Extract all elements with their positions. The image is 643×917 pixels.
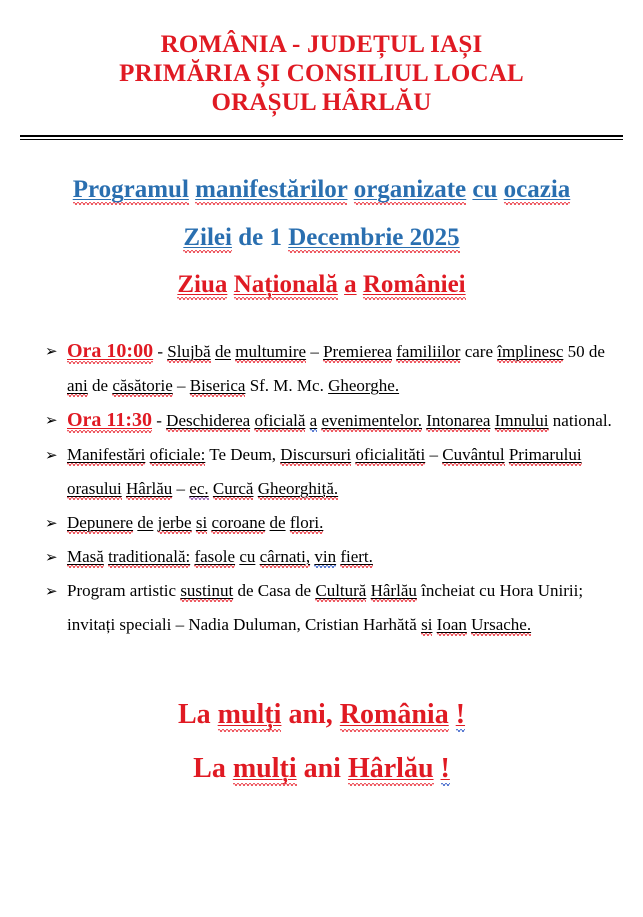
title-date: Zilei de 1 Decembrie 2025 <box>0 214 643 262</box>
program-list: ➢ Ora 10:00 - Slujbă de multumire – Prem… <box>45 334 621 642</box>
header-divider <box>20 135 623 140</box>
divider-thin-line <box>20 139 623 140</box>
list-item: ➢ Program artistic sustinut de Casa de C… <box>45 574 621 642</box>
event-separator: - <box>153 342 167 361</box>
arrow-bullet-icon: ➢ <box>45 438 58 472</box>
event-separator: - <box>152 411 166 430</box>
title-program: Programul manifestărilor organizate cu o… <box>0 166 643 214</box>
arrow-bullet-icon: ➢ <box>45 334 58 368</box>
event-text: Masă traditională: fasole cu cârnati, vi… <box>67 547 373 568</box>
header-line-city: ORAȘUL HÂRLĂU <box>0 88 643 117</box>
arrow-bullet-icon: ➢ <box>45 540 58 574</box>
header-line-country: ROMÂNIA - JUDEȚUL IAȘI <box>0 30 643 59</box>
title-national-day: Ziua Națională a României <box>0 262 643 308</box>
event-text: Manifestări oficiale: Te Deum, Discursur… <box>67 445 582 500</box>
arrow-bullet-icon: ➢ <box>45 506 58 540</box>
document-titles: Programul manifestărilor organizate cu o… <box>0 166 643 308</box>
arrow-bullet-icon: ➢ <box>45 403 58 437</box>
closing-line-harlau: La mulți ani Hârlău ! <box>0 742 643 796</box>
document-page: ROMÂNIA - JUDEȚUL IAȘI PRIMĂRIA ȘI CONSI… <box>0 0 643 917</box>
header-line-institution: PRIMĂRIA ȘI CONSILIUL LOCAL <box>0 59 643 88</box>
list-item: ➢ Masă traditională: fasole cu cârnati, … <box>45 540 621 574</box>
list-item: ➢ Depunere de jerbe si coroane de flori. <box>45 506 621 540</box>
event-text: Program artistic sustinut de Casa de Cul… <box>67 581 583 636</box>
document-header: ROMÂNIA - JUDEȚUL IAȘI PRIMĂRIA ȘI CONSI… <box>0 0 643 117</box>
list-item: ➢ Ora 11:30 - Deschiderea oficială a eve… <box>45 403 621 438</box>
list-item: ➢ Ora 10:00 - Slujbă de multumire – Prem… <box>45 334 621 403</box>
closing-block: La mulți ani, România ! La mulți ani Hâr… <box>0 688 643 796</box>
event-time: Ora 10:00 <box>67 340 153 364</box>
closing-line-romania: La mulți ani, România ! <box>0 688 643 742</box>
event-text: Depunere de jerbe si coroane de flori. <box>67 513 323 534</box>
list-item: ➢ Manifestări oficiale: Te Deum, Discurs… <box>45 438 621 506</box>
event-text: Deschiderea oficială a evenimentelor. In… <box>166 411 612 432</box>
event-time: Ora 11:30 <box>67 409 152 433</box>
arrow-bullet-icon: ➢ <box>45 574 58 608</box>
